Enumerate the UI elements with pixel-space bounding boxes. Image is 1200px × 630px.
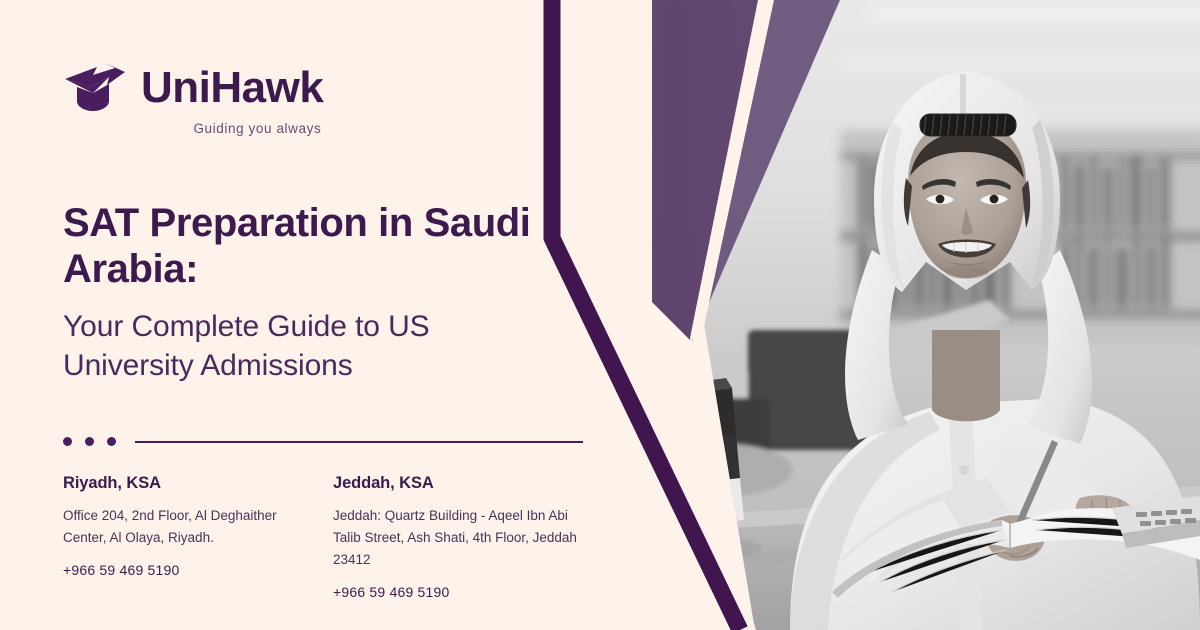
- office-phone[interactable]: +966 59 469 5190: [333, 584, 603, 600]
- office-phone[interactable]: +966 59 469 5190: [63, 562, 333, 578]
- hero-artwork: Tests y Guide: [540, 0, 1200, 630]
- page-title: SAT Preparation in Saudi Arabia:: [63, 200, 533, 293]
- divider-dot-3: [107, 437, 116, 446]
- headline-block: SAT Preparation in Saudi Arabia: Your Co…: [63, 200, 533, 385]
- office-address: Jeddah: Quartz Building - Aqeel Ibn Abi …: [333, 505, 578, 571]
- office-name: Jeddah, KSA: [333, 474, 603, 493]
- brand-logo[interactable]: UniHawk Guiding you always: [63, 62, 323, 136]
- office-riyadh: Riyadh, KSA Office 204, 2nd Floor, Al De…: [63, 474, 333, 600]
- graduation-cap-arrow-icon: [63, 62, 127, 114]
- content-panel: UniHawk Guiding you always SAT Preparati…: [0, 0, 620, 630]
- brand-name: UniHawk: [141, 66, 323, 110]
- logo-row: UniHawk: [63, 62, 323, 114]
- office-list: Riyadh, KSA Office 204, 2nd Floor, Al De…: [63, 474, 603, 600]
- hero-photo-svg: Tests y Guide: [540, 0, 1200, 630]
- brand-tagline: Guiding you always: [193, 121, 321, 136]
- section-divider: [63, 437, 583, 446]
- divider-dot-1: [63, 437, 72, 446]
- hero-photo: Tests y Guide: [540, 0, 1200, 630]
- divider-dot-2: [85, 437, 94, 446]
- divider-rule: [135, 441, 583, 443]
- promo-banner: Tests y Guide: [0, 0, 1200, 630]
- office-name: Riyadh, KSA: [63, 474, 333, 493]
- office-address: Office 204, 2nd Floor, Al Deghaither Cen…: [63, 505, 308, 549]
- office-jeddah: Jeddah, KSA Jeddah: Quartz Building - Aq…: [333, 474, 603, 600]
- page-subtitle: Your Complete Guide to US University Adm…: [63, 307, 533, 385]
